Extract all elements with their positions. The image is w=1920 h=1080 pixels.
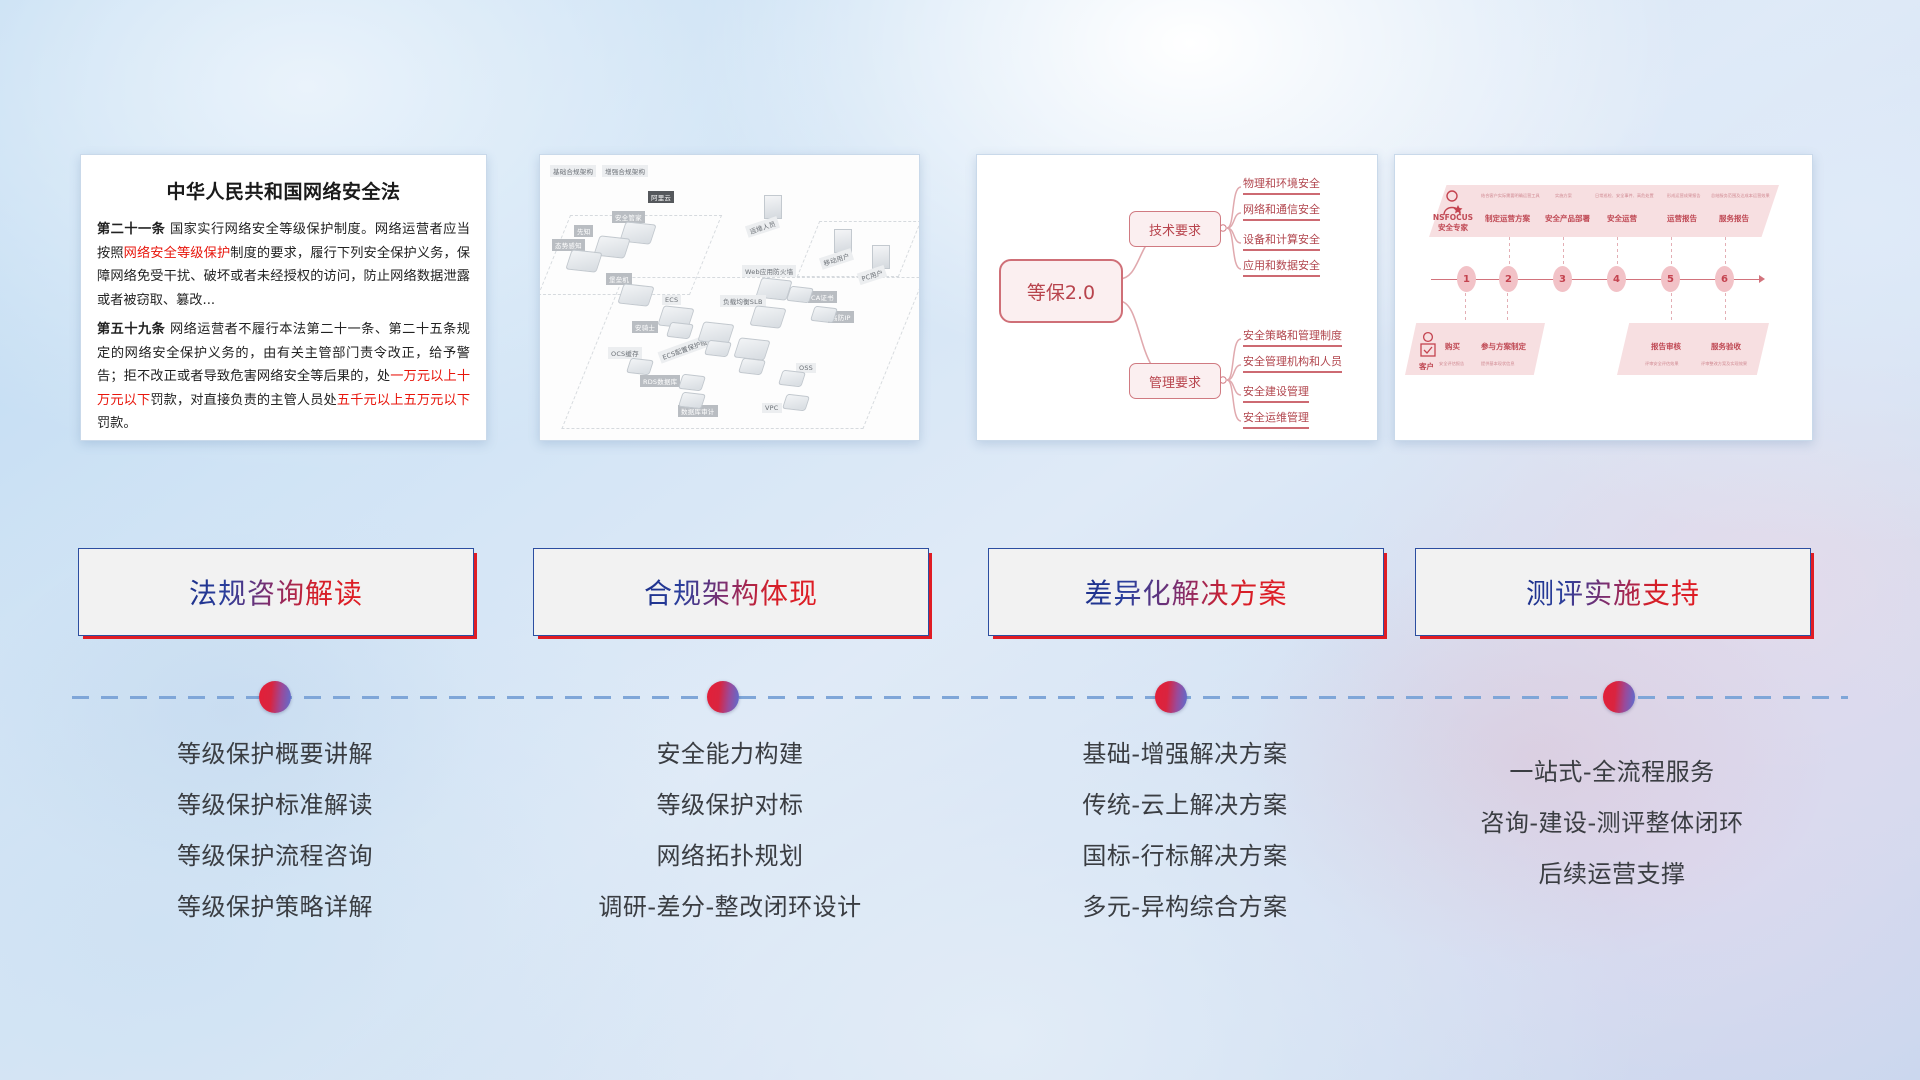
mindmap-leaf-device: 设备和计算安全 bbox=[1243, 231, 1320, 251]
timeline-step-dot-4: 4 bbox=[1607, 266, 1626, 292]
topology-legend-basic: 基础合规架构 bbox=[550, 165, 596, 177]
headline-box-assessment-support[interactable]: 测评实施支持 bbox=[1415, 548, 1811, 636]
topology-host-ops bbox=[764, 195, 782, 219]
bottom-step-1-sub: 安全评估报告 bbox=[1439, 361, 1464, 367]
law-body: 中华人民共和国网络安全法 第二十一条 国家实行网络安全等级保护制度。网络运营者应… bbox=[81, 155, 486, 440]
topology-shape-oss bbox=[778, 370, 806, 388]
list-item: 后续运营支撑 bbox=[1415, 862, 1809, 886]
expert-role-label: NSFOCUS安全专家 bbox=[1429, 213, 1477, 233]
dashed-timeline-line bbox=[72, 696, 1848, 699]
bullet-column-4: 一站式-全流程服务 咨询-建设-测评整体闭环 后续运营支撑 bbox=[1415, 760, 1809, 913]
article-59-highlight-2: 五千元以上五万元以下 bbox=[337, 393, 470, 408]
top-step-2-title: 安全产品部署 bbox=[1545, 213, 1590, 224]
topology-shape-ecs-4 bbox=[733, 337, 770, 360]
headline-box-regulation-consulting[interactable]: 法规咨询解读 bbox=[78, 548, 474, 636]
topology-shape-ecs-5 bbox=[738, 358, 766, 376]
timeline-axis bbox=[1431, 279, 1761, 280]
timeline-dash-5 bbox=[1671, 237, 1672, 267]
customer-person-icon bbox=[1417, 331, 1439, 361]
list-item: 等级保护流程咨询 bbox=[78, 844, 472, 868]
topology-diagram: 基础合规架构 增强合规架构 阿里云 运维人员 移动用户 PC用户 安全管家 先知… bbox=[540, 155, 919, 440]
top-step-3-title: 安全运营 bbox=[1607, 213, 1637, 224]
nsfocus-customer-band-right bbox=[1617, 323, 1769, 375]
list-item: 多元-异构综合方案 bbox=[988, 895, 1382, 919]
mindmap-branch-management: 管理要求 bbox=[1129, 363, 1221, 399]
headline-label-2: 合规架构体现 bbox=[644, 572, 818, 612]
list-item: 基础-增强解决方案 bbox=[988, 742, 1382, 766]
timeline-dash-4 bbox=[1617, 237, 1618, 267]
topology-shape-slb bbox=[749, 305, 786, 328]
timeline-step-dot-3: 3 bbox=[1553, 266, 1572, 292]
topology-node-rds: RDS数据库 bbox=[640, 375, 680, 387]
top-step-5-sub: 总结服务范围及达成本运营效果 bbox=[1711, 193, 1770, 199]
article-21-highlight: 网络安全等级保护 bbox=[124, 246, 231, 261]
article-21-label: 第二十一条 bbox=[97, 222, 165, 237]
headline-label-3: 差异化解决方案 bbox=[1084, 572, 1287, 612]
topology-legend-enhanced: 增强合规架构 bbox=[602, 165, 648, 177]
headline-label-1: 法规咨询解读 bbox=[189, 572, 363, 612]
mindmap-leaf-org: 安全管理机构和人员 bbox=[1243, 353, 1342, 373]
bullet-column-2: 安全能力构建 等级保护对标 网络拓扑规划 调研-差分-整改闭环设计 bbox=[533, 742, 927, 946]
list-item: 等级保护概要讲解 bbox=[78, 742, 472, 766]
topology-shape-rds bbox=[678, 374, 706, 392]
timeline-node-2[interactable] bbox=[707, 681, 739, 713]
timeline-node-4[interactable] bbox=[1603, 681, 1635, 713]
mindmap-diagram: 等保2.0 技术要求 管理要求 物理和环境安全 网络和通信安全 设备和计算安全 … bbox=[977, 155, 1377, 440]
bottom-step-2-title: 参与方案制定 bbox=[1481, 341, 1526, 352]
bullet-column-1: 等级保护概要讲解 等级保护标准解读 等级保护流程咨询 等级保护策略详解 bbox=[78, 742, 472, 946]
topology-node-shishi: 态势感知 bbox=[552, 239, 585, 251]
bottom-step-4-sub: 评审整改方案及实现效果 bbox=[1701, 361, 1747, 367]
timeline-step-dot-5: 5 bbox=[1661, 266, 1680, 292]
timeline-arrow-icon bbox=[1759, 275, 1765, 283]
mindmap-leaf-policy: 安全策略和管理制度 bbox=[1243, 327, 1342, 347]
bottom-step-4-title: 服务验收 bbox=[1711, 341, 1741, 352]
topology-shape-shishi bbox=[565, 249, 602, 272]
timeline-dash-6 bbox=[1725, 237, 1726, 267]
timeline-dash-b5 bbox=[1671, 293, 1672, 323]
bullet-column-3: 基础-增强解决方案 传统-云上解决方案 国标-行标解决方案 多元-异构综合方案 bbox=[988, 742, 1382, 946]
headline-box-differentiated-solution[interactable]: 差异化解决方案 bbox=[988, 548, 1384, 636]
card-dengbao-mindmap: 等保2.0 技术要求 管理要求 物理和环境安全 网络和通信安全 设备和计算安全 … bbox=[976, 154, 1378, 441]
list-item: 等级保护标准解读 bbox=[78, 793, 472, 817]
topology-node-ocs: OCS缓存 bbox=[608, 347, 642, 359]
card-compliance-topology: 基础合规架构 增强合规架构 阿里云 运维人员 移动用户 PC用户 安全管家 先知… bbox=[539, 154, 920, 441]
list-item: 等级保护策略详解 bbox=[78, 895, 472, 919]
timeline-dash-3 bbox=[1563, 237, 1564, 267]
mindmap-branch-technical: 技术要求 bbox=[1129, 211, 1221, 247]
article-59-label: 第五十九条 bbox=[97, 322, 165, 337]
list-item: 国标-行标解决方案 bbox=[988, 844, 1382, 868]
customer-role-label: 客户 bbox=[1419, 361, 1434, 372]
topology-node-ops-label: 运维人员 bbox=[745, 216, 780, 238]
topology-cloud-label: 阿里云 bbox=[648, 191, 674, 203]
topology-zone-right bbox=[797, 221, 920, 277]
article-59-post: 罚款。 bbox=[97, 416, 137, 431]
top-step-2-sub: 实施方案 bbox=[1555, 193, 1572, 199]
list-item: 调研-差分-整改闭环设计 bbox=[533, 895, 927, 919]
top-step-4-sub: 形成运营成果报告 bbox=[1667, 193, 1701, 199]
headline-label-4: 测评实施支持 bbox=[1526, 572, 1700, 612]
mindmap-leaf-ops: 安全运维管理 bbox=[1243, 409, 1309, 429]
mindmap-leaf-construct: 安全建设管理 bbox=[1243, 383, 1309, 403]
list-item: 咨询-建设-测评整体闭环 bbox=[1415, 811, 1809, 835]
list-item: 一站式-全流程服务 bbox=[1415, 760, 1809, 784]
timeline-dash-b1 bbox=[1465, 293, 1466, 323]
headline-box-compliance-architecture[interactable]: 合规架构体现 bbox=[533, 548, 929, 636]
timeline-dash-b6 bbox=[1725, 293, 1726, 323]
timeline-step-dot-1: 1 bbox=[1457, 266, 1476, 292]
list-item: 网络拓扑规划 bbox=[533, 844, 927, 868]
law-title: 中华人民共和国网络安全法 bbox=[97, 177, 470, 204]
law-article-59: 第五十九条 网络运营者不履行本法第二十一条、第二十五条规定的网络安全保护义务的，… bbox=[97, 318, 470, 436]
topology-shape-ca bbox=[786, 286, 814, 304]
reference-cards-row: 中华人民共和国网络安全法 第二十一条 国家实行网络安全等级保护制度。网络运营者应… bbox=[0, 0, 1920, 460]
list-item: 传统-云上解决方案 bbox=[988, 793, 1382, 817]
timeline-node-3[interactable] bbox=[1155, 681, 1187, 713]
mindmap-leaf-appdata: 应用和数据安全 bbox=[1243, 257, 1320, 277]
mindmap-root: 等保2.0 bbox=[999, 259, 1123, 323]
timeline-step-dot-2: 2 bbox=[1499, 266, 1518, 292]
topology-shape-dbaudit bbox=[678, 392, 706, 410]
top-step-5-title: 服务报告 bbox=[1719, 213, 1749, 224]
mindmap-leaf-physical: 物理和环境安全 bbox=[1243, 175, 1320, 195]
top-step-1-title: 制定运营方案 bbox=[1485, 213, 1530, 224]
list-item: 安全能力构建 bbox=[533, 742, 927, 766]
topology-shape-anqishi bbox=[666, 322, 694, 340]
topology-node-vpc: VPC bbox=[762, 403, 782, 413]
topology-node-anqishi: 安骑士 bbox=[632, 321, 658, 333]
top-step-4-title: 运营报告 bbox=[1667, 213, 1697, 224]
timeline-dash-2 bbox=[1509, 237, 1510, 267]
topology-shape-ocs bbox=[626, 358, 654, 376]
topology-shape-baolei bbox=[617, 283, 654, 306]
bottom-step-3-sub: 评审安全评估效果 bbox=[1645, 361, 1679, 367]
timeline-step-dot-6: 6 bbox=[1715, 266, 1734, 292]
article-59-mid: 罚款，对直接负责的主管人员处 bbox=[150, 393, 337, 408]
mindmap-leaf-network: 网络和通信安全 bbox=[1243, 201, 1320, 221]
top-step-1-sub: 结合客户实际需要明确运营工具 bbox=[1481, 193, 1540, 199]
topology-shape-ecs-3 bbox=[704, 340, 732, 358]
card-nsfocus-service-timeline: NSFOCUS安全专家 结合客户实际需要明确运营工具 制定运营方案 实施方案 安… bbox=[1394, 154, 1813, 441]
timeline-dash-b2 bbox=[1507, 293, 1508, 323]
list-item: 等级保护对标 bbox=[533, 793, 927, 817]
topology-shape-antiddos bbox=[810, 306, 838, 324]
topology-node-waf: Web应用防火墙 bbox=[742, 265, 796, 277]
timeline-node-1[interactable] bbox=[259, 681, 291, 713]
topology-shape-vpc bbox=[782, 394, 810, 412]
bottom-step-2-sub: 提供基本现状信息 bbox=[1481, 361, 1515, 367]
topology-node-ecs: ECS bbox=[662, 295, 681, 305]
top-step-3-sub: 日常巡检、安全事件、高危处置 bbox=[1595, 193, 1654, 199]
law-article-21: 第二十一条 国家实行网络安全等级保护制度。网络运营者应当按照网络安全等级保护制度… bbox=[97, 218, 470, 312]
card-cybersecurity-law: 中华人民共和国网络安全法 第二十一条 国家实行网络安全等级保护制度。网络运营者应… bbox=[80, 154, 487, 441]
bottom-step-1-title: 购买 bbox=[1445, 341, 1460, 352]
topology-node-xianzhi: 先知 bbox=[574, 225, 593, 237]
bottom-step-3-title: 报告审核 bbox=[1651, 341, 1681, 352]
nsfocus-timeline-diagram: NSFOCUS安全专家 结合客户实际需要明确运营工具 制定运营方案 实施方案 安… bbox=[1395, 155, 1812, 440]
